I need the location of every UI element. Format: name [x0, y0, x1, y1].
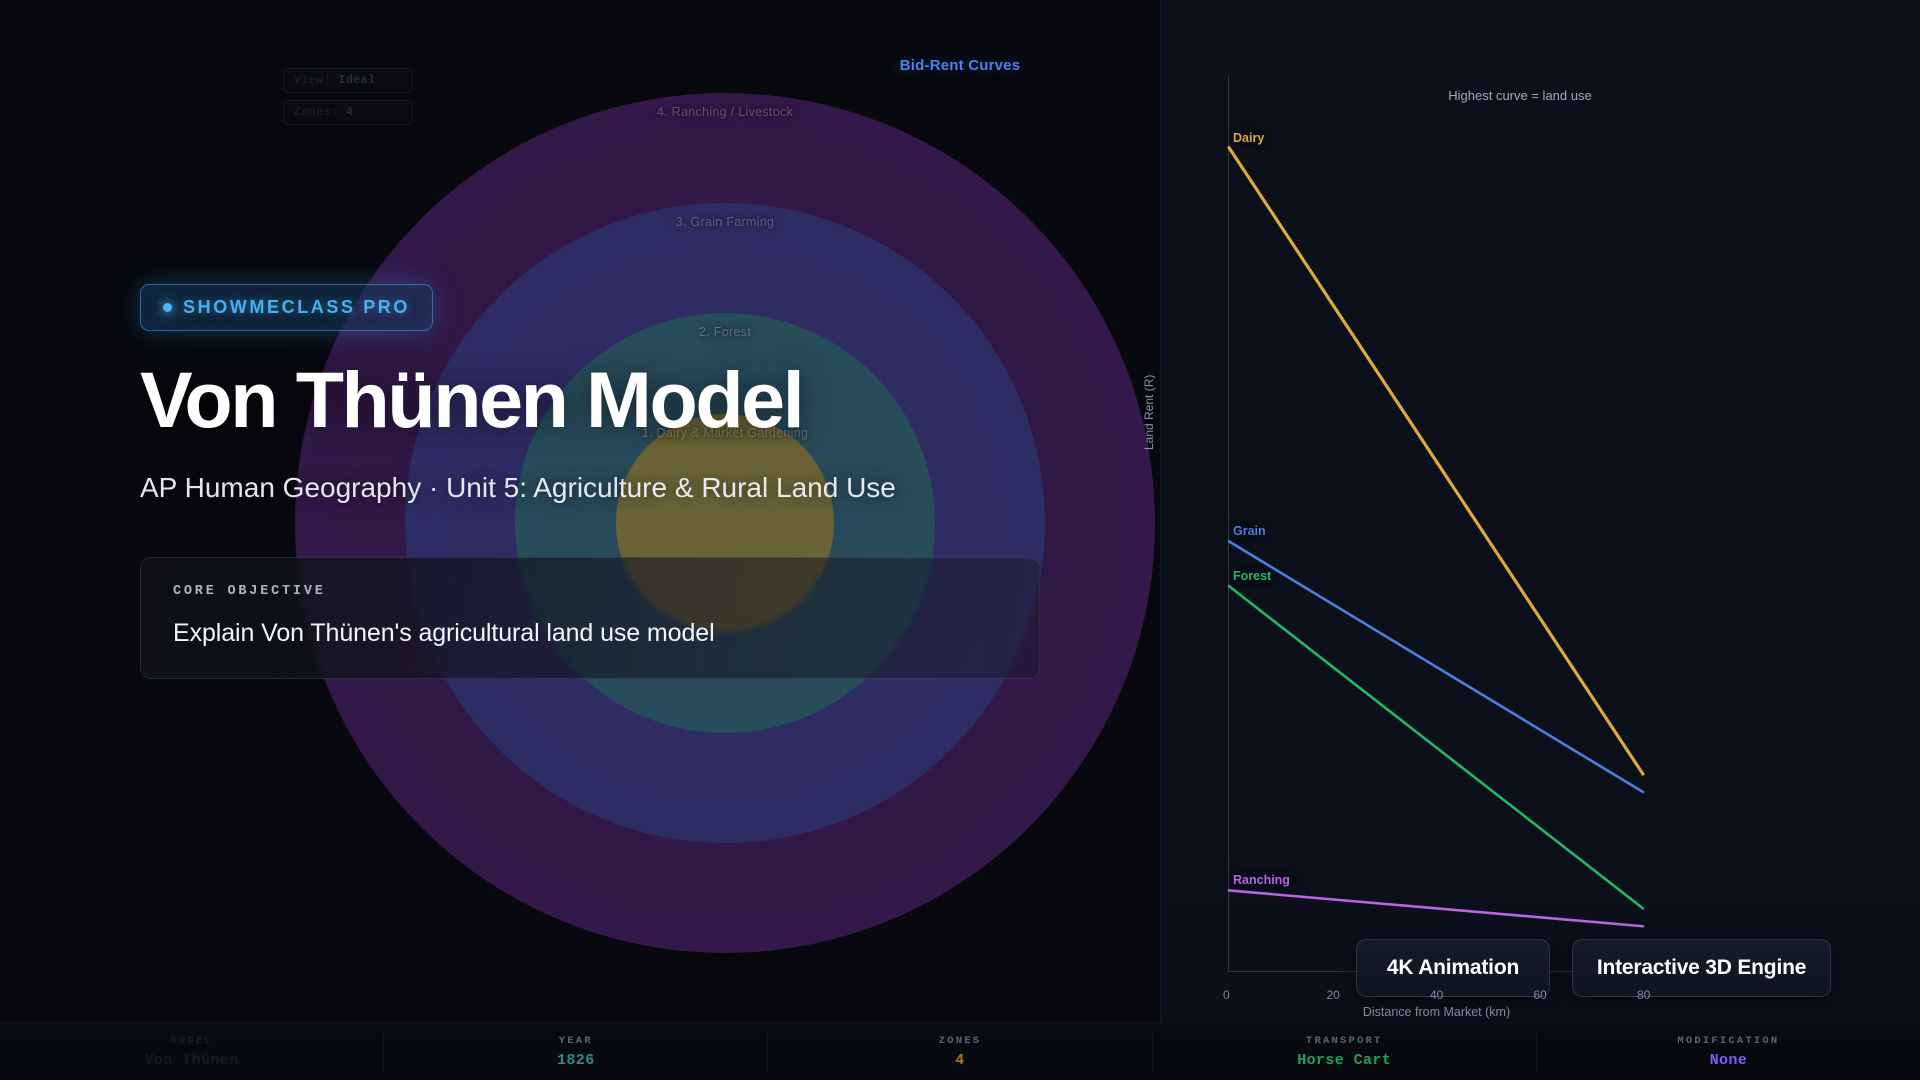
status-key: ZONES [768, 1035, 1151, 1047]
hud-zones-key: Zones: [294, 106, 338, 119]
curve-label-grain: Grain [1233, 524, 1266, 538]
status-key: TRANSPORT [1153, 1035, 1536, 1047]
pro-badge-label: SHOWMECLASS PRO [183, 297, 410, 318]
status-key: MODIFICATION [1537, 1035, 1920, 1047]
hud-view-key: View: [294, 74, 331, 87]
status-item-zones: ZONES4 [768, 1031, 1152, 1073]
status-value: 4 [768, 1052, 1151, 1069]
curve-label-ranching: Ranching [1233, 873, 1290, 887]
chart-x-tick: 0 [1223, 988, 1230, 1002]
core-objective-card: CORE OBJECTIVE Explain Von Thünen's agri… [140, 557, 1040, 679]
diagram-hud: View: Ideal Zones: 4 [283, 68, 413, 132]
curve-label-dairy: Dairy [1233, 131, 1264, 145]
hud-zones-value: 4 [346, 106, 353, 119]
core-objective-label: CORE OBJECTIVE [173, 584, 1007, 599]
chart-x-tick: 80 [1637, 988, 1650, 1002]
status-dot-icon [163, 303, 172, 312]
status-key: YEAR [384, 1035, 767, 1047]
curve-label-forest: Forest [1233, 569, 1271, 583]
core-objective-text: Explain Von Thünen's agricultural land u… [173, 619, 1007, 648]
page-title: Von Thünen Model [140, 361, 1045, 439]
chart-x-tick: 40 [1430, 988, 1443, 1002]
presentation-slide: 4. Ranching / Livestock 3. Grain Farming… [0, 0, 1920, 1080]
bid-rent-chart-panel [1160, 0, 1920, 1025]
chart-x-tick: 20 [1327, 988, 1340, 1002]
status-value: None [1537, 1052, 1920, 1069]
hud-view-value: Ideal [338, 74, 375, 87]
hud-zones-chip[interactable]: Zones: 4 [283, 100, 413, 125]
status-value: 1826 [384, 1052, 767, 1069]
status-item-transport: TRANSPORTHorse Cart [1153, 1031, 1537, 1073]
status-item-year: YEAR1826 [384, 1031, 768, 1073]
hero-block: SHOWMECLASS PRO Von Thünen Model AP Huma… [140, 284, 1045, 679]
status-item-model: MODELVon Thünen [0, 1031, 384, 1073]
page-subtitle: AP Human Geography · Unit 5: Agriculture… [140, 465, 985, 510]
chart-y-axis [1228, 76, 1229, 971]
status-bar: MODELVon ThünenYEAR1826ZONES4TRANSPORTHo… [0, 1022, 1920, 1080]
chart-x-tick: 60 [1534, 988, 1547, 1002]
chart-y-axis-label: Land Rent (R) [1142, 375, 1156, 450]
pro-badge[interactable]: SHOWMECLASS PRO [140, 284, 433, 331]
status-value: Horse Cart [1153, 1052, 1536, 1069]
status-item-modification: MODIFICATIONNone [1537, 1031, 1920, 1073]
chart-x-axis-label: Distance from Market (km) [1229, 1005, 1644, 1019]
status-value: Von Thünen [0, 1052, 383, 1069]
chart-annotation: Highest curve = land use [1370, 88, 1670, 103]
hud-view-chip[interactable]: View: Ideal [283, 68, 413, 93]
4k-animation-button[interactable]: 4K Animation [1356, 939, 1550, 997]
status-key: MODEL [0, 1035, 383, 1047]
interactive-3d-engine-button[interactable]: Interactive 3D Engine [1572, 939, 1831, 997]
